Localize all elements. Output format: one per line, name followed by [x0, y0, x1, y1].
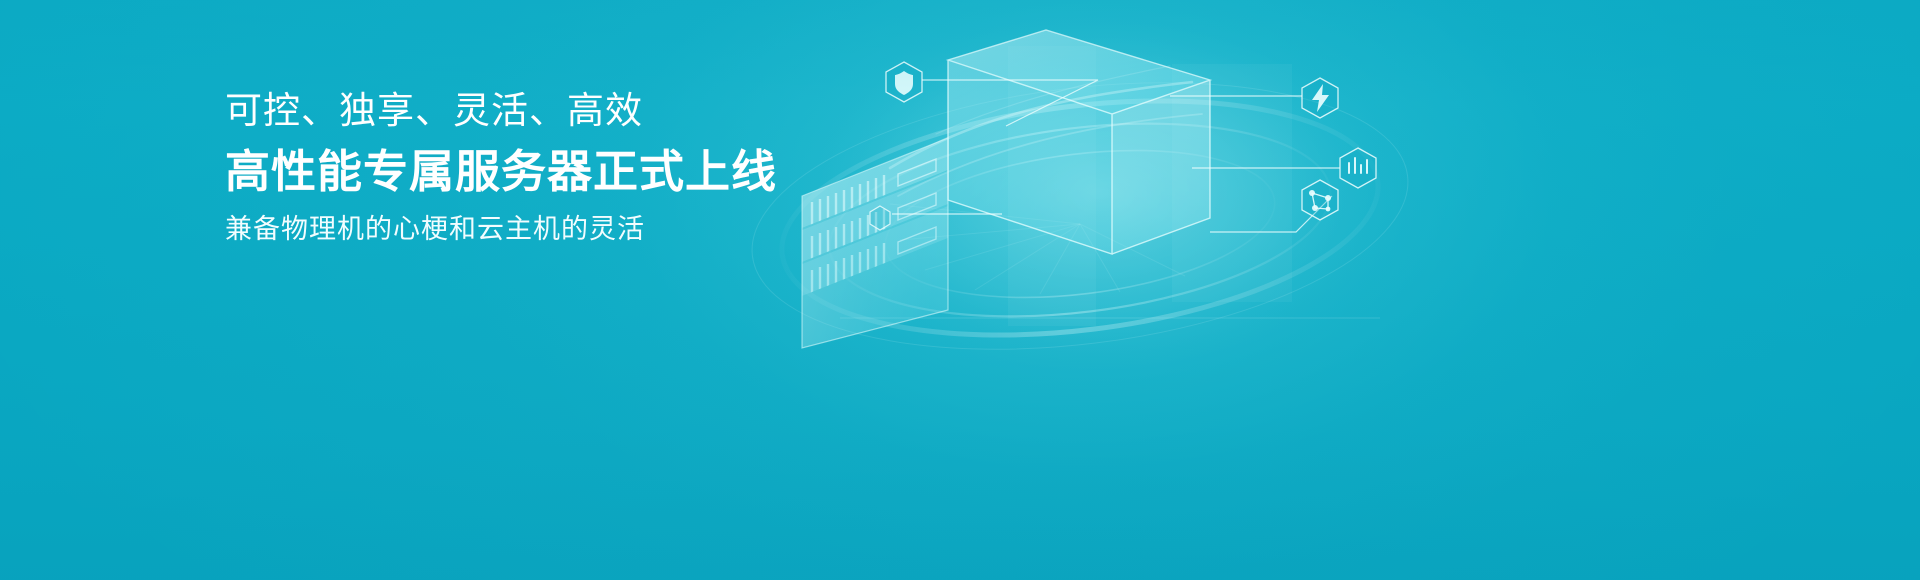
node-icon [870, 206, 890, 230]
copy-block: 可控、独享、灵活、高效 高性能专属服务器正式上线 兼备物理机的心梗和云主机的灵活 [225, 88, 845, 247]
subtitle-text: 兼备物理机的心梗和云主机的灵活 [225, 212, 845, 247]
badge-node[interactable] [870, 206, 890, 230]
page-title: 高性能专属服务器正式上线 [225, 145, 845, 199]
promo-banner: 可控、独享、灵活、高效 高性能专属服务器正式上线 兼备物理机的心梗和云主机的灵活 [0, 0, 1920, 580]
server-illustration [740, 18, 1440, 348]
eyebrow-text: 可控、独享、灵活、高效 [225, 88, 845, 135]
